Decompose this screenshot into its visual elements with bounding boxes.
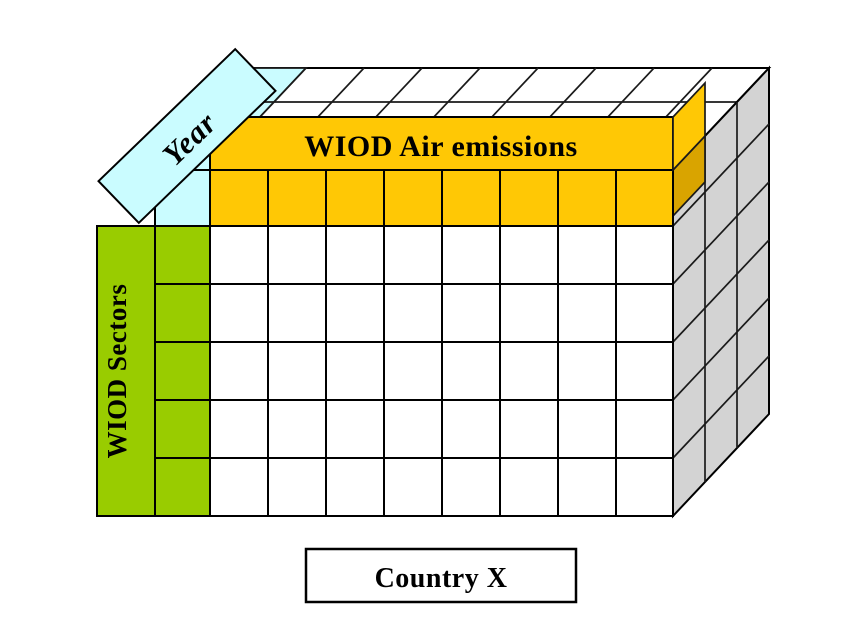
sector-cell-3 xyxy=(155,342,210,400)
emission-cell-1 xyxy=(210,170,268,226)
sector-cell-2 xyxy=(155,284,210,342)
emission-cell-2 xyxy=(268,170,326,226)
emission-cell-4 xyxy=(384,170,442,226)
wiod-data-cube: WIOD Air emissions WIOD Sectors Year Cou… xyxy=(0,0,867,639)
emissions-banner-label: WIOD Air emissions xyxy=(304,130,577,163)
emission-cell-6 xyxy=(500,170,558,226)
emission-cell-7 xyxy=(558,170,616,226)
sector-cell-1 xyxy=(155,226,210,284)
country-caption: Country X xyxy=(306,549,576,602)
sectors-label-text: WIOD Sectors xyxy=(102,284,132,459)
diagram-canvas: WIOD Air emissions WIOD Sectors Year Cou… xyxy=(0,0,867,639)
emission-cell-5 xyxy=(442,170,500,226)
sector-cell-5 xyxy=(155,458,210,516)
country-caption-label: Country X xyxy=(375,563,508,594)
cube-front-face xyxy=(155,136,705,516)
sector-cell-4 xyxy=(155,400,210,458)
sectors-axis-label: WIOD Sectors xyxy=(97,226,155,516)
emission-cell-8 xyxy=(616,170,673,226)
emission-cell-3 xyxy=(326,170,384,226)
